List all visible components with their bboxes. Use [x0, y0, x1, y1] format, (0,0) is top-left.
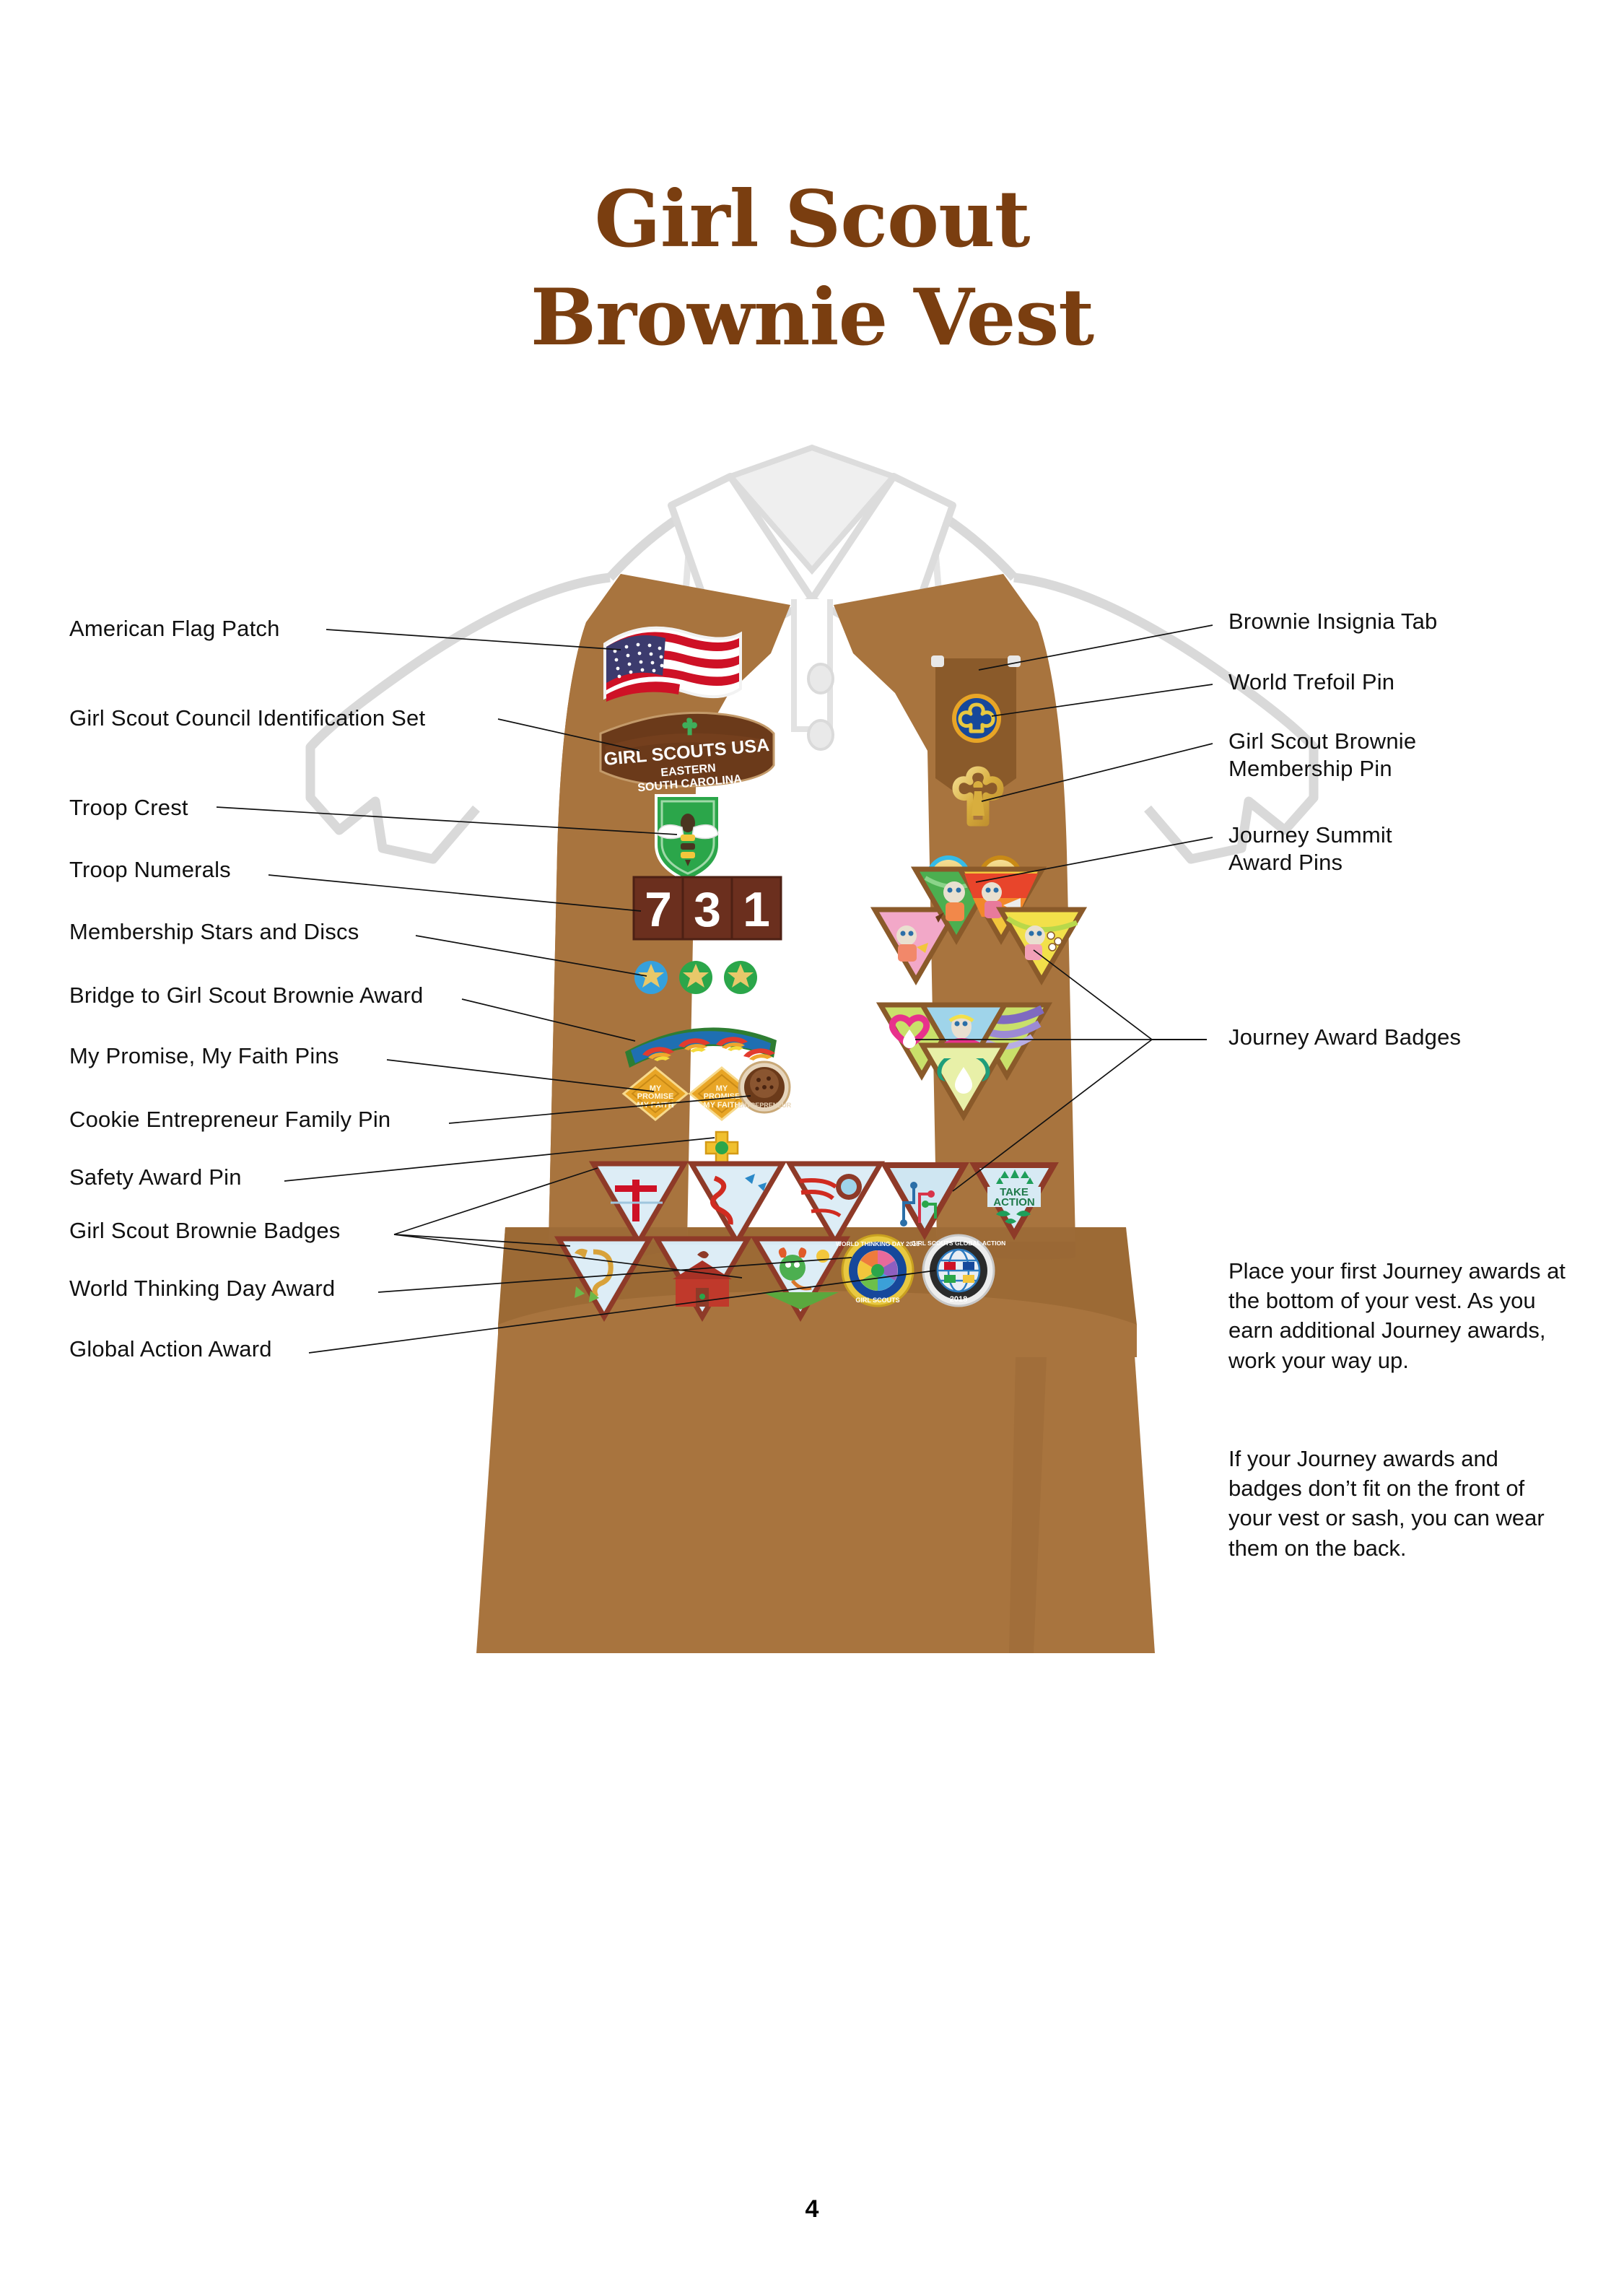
label-safety-award-pin: Safety Award Pin — [69, 1164, 242, 1191]
troop-numeral-digit: 3 — [694, 882, 721, 937]
label-journey-award-badges: Journey Award Badges — [1228, 1024, 1461, 1051]
american-flag-patch-icon — [605, 628, 741, 702]
world-trefoil-pin-icon — [952, 694, 1001, 743]
cookie-entrepreneur-pin-icon: ENTREPRENEUR — [738, 1062, 792, 1112]
label-my-promise-my-faith-pins: My Promise, My Faith Pins — [69, 1042, 339, 1070]
brownie-vest-illustration: GIRL SCOUTS USA EASTERN SOUTH CAROLINA 7… — [0, 0, 1624, 2274]
label-council-identification-set: Girl Scout Council Identification Set — [69, 705, 425, 732]
shirt-button — [808, 720, 833, 749]
note-place-first-journey-awards: Place your first Journey awards at the b… — [1228, 1256, 1568, 1375]
label-brownie-membership-pin: Girl Scout Brownie Membership Pin — [1228, 728, 1416, 783]
svg-text:2018: 2018 — [950, 1295, 967, 1304]
brownie-triangle-badge-icon — [559, 1239, 846, 1317]
poster-page: Girl Scout Brownie Vest — [0, 0, 1624, 2274]
membership-star-disc-icon — [634, 961, 757, 994]
label-membership-stars-and-discs: Membership Stars and Discs — [69, 918, 359, 946]
svg-text:GIRL SCOUTS: GIRL SCOUTS — [855, 1297, 899, 1304]
label-journey-summit-award-pins: Journey Summit Award Pins — [1228, 822, 1392, 876]
label-troop-numerals: Troop Numerals — [69, 856, 231, 884]
svg-text:PROMISE: PROMISE — [637, 1092, 674, 1101]
label-bridge-to-brownie-award: Bridge to Girl Scout Brownie Award — [69, 982, 423, 1009]
label-brownie-insignia-tab: Brownie Insignia Tab — [1228, 608, 1438, 635]
troop-numerals-icon: 7 3 1 — [634, 877, 781, 939]
label-girl-scout-brownie-badges: Girl Scout Brownie Badges — [69, 1217, 340, 1245]
label-global-action-award: Global Action Award — [69, 1336, 272, 1363]
label-world-thinking-day-award: World Thinking Day Award — [69, 1275, 335, 1302]
svg-text:WORLD THINKING DAY 2018: WORLD THINKING DAY 2018 — [836, 1240, 920, 1247]
label-world-trefoil-pin: World Trefoil Pin — [1228, 668, 1394, 696]
note-wear-on-the-back: If your Journey awards and badges don’t … — [1228, 1444, 1568, 1563]
troop-crest-bee-icon — [656, 796, 720, 881]
take-action-line-2: ACTION — [993, 1196, 1035, 1208]
label-american-flag-patch: American Flag Patch — [69, 615, 280, 642]
page-number: 4 — [0, 2195, 1624, 2223]
label-cookie-entrepreneur-family-pin: Cookie Entrepreneur Family Pin — [69, 1106, 390, 1133]
svg-text:GIRL SCOUTS GLOBAL ACTION: GIRL SCOUTS GLOBAL ACTION — [912, 1240, 1006, 1247]
label-troop-crest: Troop Crest — [69, 794, 188, 822]
svg-text:ENTREPRENEUR: ENTREPRENEUR — [738, 1102, 792, 1109]
shirt-button — [808, 664, 833, 693]
brownie-triangle-badge-icon — [593, 1164, 881, 1242]
troop-numeral-digit: 1 — [743, 882, 770, 937]
svg-text:MY FAITH: MY FAITH — [703, 1101, 740, 1110]
troop-numeral-digit: 7 — [645, 882, 672, 937]
